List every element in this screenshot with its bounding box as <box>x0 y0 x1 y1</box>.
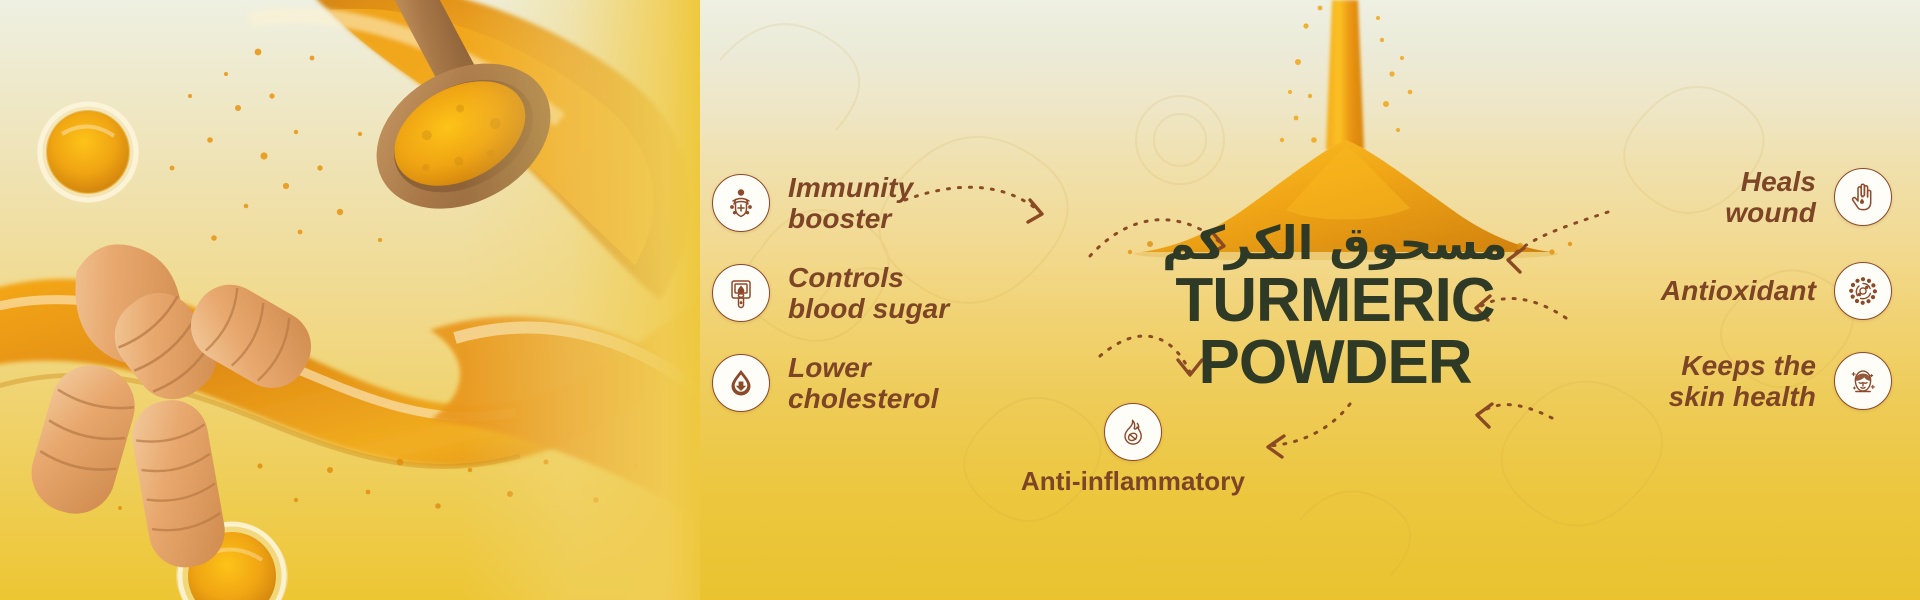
antioxidant-molecule-icon <box>1834 262 1892 320</box>
feature-label: Anti-inflammatory <box>1021 467 1245 496</box>
title-arabic: مسحوق الكركم <box>1150 218 1520 269</box>
product-title-block: مسحوق الكركم TURMERIC POWDER <box>1150 218 1520 394</box>
arrow-path-immunity <box>905 187 1040 212</box>
title-line-powder: POWDER <box>1150 333 1520 394</box>
feature-keeps-skin-health[interactable]: Keeps the skin health <box>1669 350 1892 413</box>
cholesterol-droplet-icon <box>712 354 770 412</box>
feature-label: Immunity booster <box>788 172 913 235</box>
turmeric-powder-banner: مسحوق الكركم TURMERIC POWDER Immunity bo… <box>0 0 1920 600</box>
glucometer-icon <box>712 264 770 322</box>
feature-label: Keeps the skin health <box>1669 350 1816 413</box>
feature-lower-cholesterol[interactable]: Lower cholesterol <box>712 352 938 415</box>
arrowhead-immunity <box>1028 200 1042 222</box>
feature-label: Antioxidant <box>1661 275 1816 306</box>
title-line-turmeric: TURMERIC <box>1150 271 1520 332</box>
glass-bowl-top <box>36 102 140 202</box>
arrowhead-skin <box>1477 404 1492 427</box>
flame-icon <box>1104 403 1162 461</box>
feature-heals-wound[interactable]: Heals wound <box>1725 166 1892 229</box>
arrowhead-anti-inflammatory <box>1268 436 1284 457</box>
photo-right-fade <box>462 0 700 600</box>
feature-immunity-booster[interactable]: Immunity booster <box>712 172 913 235</box>
feature-controls-blood-sugar[interactable]: Controls blood sugar <box>712 262 949 325</box>
feature-label: Controls blood sugar <box>788 262 949 325</box>
feature-label: Heals wound <box>1725 166 1816 229</box>
healing-hand-icon <box>1834 168 1892 226</box>
feature-label: Lower cholesterol <box>788 352 938 415</box>
skin-face-icon <box>1834 352 1892 410</box>
arrow-path-skin <box>1478 405 1552 418</box>
feature-anti-inflammatory[interactable]: Anti-inflammatory <box>1008 403 1258 496</box>
feature-antioxidant[interactable]: Antioxidant <box>1661 262 1892 320</box>
immunity-shield-icon <box>712 174 770 232</box>
arrow-path-anti-inflammatory <box>1268 404 1350 446</box>
turmeric-photo-collage <box>0 0 700 600</box>
